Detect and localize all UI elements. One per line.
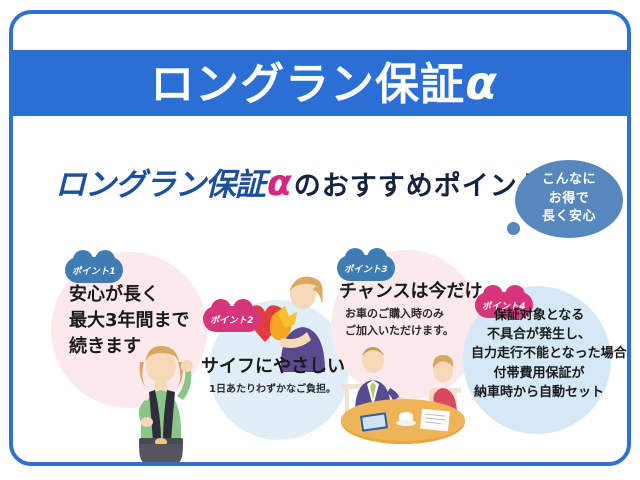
banner-title-alpha: α [465,56,498,110]
couple-at-table-illustration [333,344,473,444]
speech-bubble-line-1: こんなに [542,171,596,190]
title-banner: ロングラン保証α [12,50,631,116]
point-2-badge-label: ポイント2 [210,313,254,326]
point-1-badge: ポイント1 [65,257,123,283]
point-1-main-text: 安心が長く最大3年間まで続きます [69,282,190,360]
woman-in-green-illustration [125,344,203,462]
point-2-main-text: サイフにやさしい [201,354,345,380]
headline-suffix: のおすすめポイント [294,171,546,202]
point-3-badge: ポイント3 [337,255,395,281]
headline-brand: ロングラン保証 [55,167,265,203]
page-headline: ロングラン保証αのおすすめポイント [55,166,546,202]
speech-bubble: こんなに お得で 長く安心 [515,160,623,238]
point-3-sub-text: お車のご購入時のみご加入いただけます。 [345,306,454,339]
advertisement-frame: ロングラン保証α ロングラン保証αのおすすめポイント こんなに お得で 長く安心 [9,10,631,466]
point-4-badge-label: ポイント4 [482,299,526,312]
headline-alpha: α [265,163,294,204]
speech-bubble-dot [507,222,520,235]
point-4-main-text: 保証対象となる不具合が発生し、自力走行不能となった場合付帯費用保証が納車時から自… [471,306,607,402]
point-2-badge: ポイント2 [203,306,261,332]
banner-title: ロングラン保証α [150,60,498,107]
point-3-main-text: チャンスは今だけ [339,279,482,305]
point-1-badge-label: ポイント1 [72,264,116,277]
banner-title-main: ロングラン保証 [150,59,465,110]
point-2-sub-text: 1日あたりわずかなご負担。 [209,382,336,397]
point-3-badge-label: ポイント3 [344,262,388,275]
speech-bubble-line-3: 長く安心 [542,208,596,227]
speech-bubble-line-2: お得で [549,190,590,209]
